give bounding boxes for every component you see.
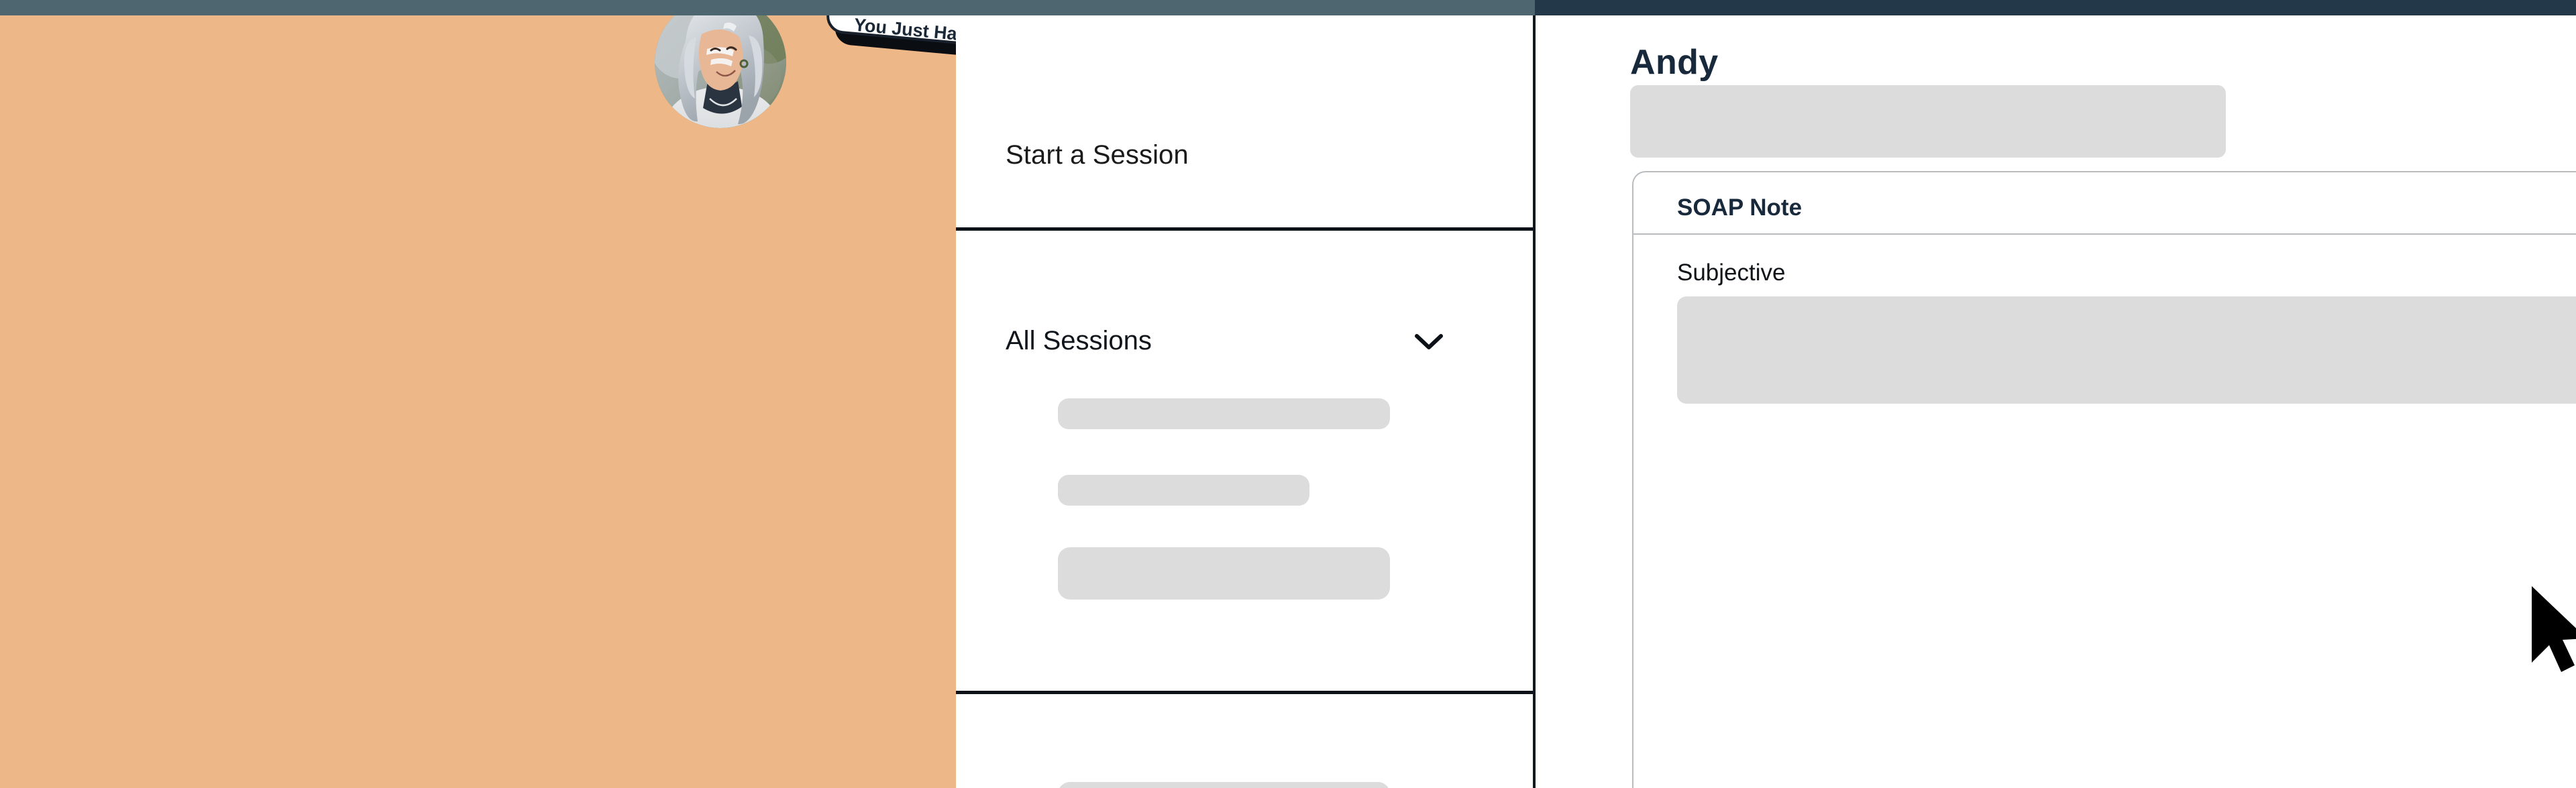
soap-section-subjective-label: Subjective: [1677, 260, 1785, 286]
subjective-body-skeleton[interactable]: [1677, 296, 2576, 404]
sidebar-footer-section: [956, 694, 1533, 788]
session-skeleton-1[interactable]: [1058, 398, 1390, 429]
all-sessions-header[interactable]: All Sessions: [1006, 326, 1482, 356]
session-skeleton-2[interactable]: [1058, 475, 1309, 506]
page-title: Andy: [1630, 42, 1719, 82]
top-chrome-band-dark: [1535, 0, 2576, 15]
chevron-down-icon[interactable]: [1413, 331, 1482, 351]
footer-skeleton-1[interactable]: [1058, 782, 1390, 788]
note-content-panel: Andy SOAP Note Subjective: [1538, 15, 2576, 788]
session-sidebar: Start a Session All Sessions: [956, 15, 1536, 788]
all-sessions-label: All Sessions: [1006, 326, 1152, 356]
start-session-section: Start a Session: [956, 15, 1533, 231]
soap-note-card: SOAP Note Subjective: [1632, 171, 2576, 788]
soap-note-title: SOAP Note: [1677, 194, 1802, 221]
all-sessions-section: All Sessions: [956, 231, 1533, 694]
avatar: [655, 0, 786, 128]
patient-summary-skeleton: [1630, 85, 2226, 158]
session-skeleton-3[interactable]: [1058, 547, 1390, 600]
start-a-session-button[interactable]: Start a Session: [1006, 140, 1189, 170]
app-root: You Just Have ... Product: [0, 0, 2576, 788]
promo-panel: You Just Have ... Product: [0, 15, 956, 788]
